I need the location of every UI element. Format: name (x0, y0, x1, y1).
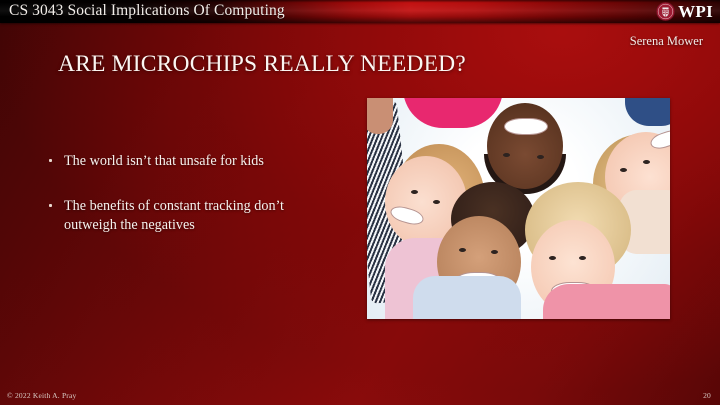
course-title: CS 3043 Social Implications Of Computing (9, 2, 285, 20)
photo-child-1-eye-left (503, 153, 510, 157)
slide-header-bar: CS 3043 Social Implications Of Computing… (0, 0, 720, 23)
footer-copyright: © 2022 Keith A. Pray (7, 391, 77, 400)
photo-child-4-eye-left (459, 248, 466, 252)
photo-child-1-face (487, 103, 563, 189)
photo-child-3-eye-left (620, 168, 627, 172)
photo-child-2-eye-right (433, 200, 440, 204)
photo-child-1-mouth (504, 118, 548, 135)
photo-child-2-eye-left (411, 190, 418, 194)
bullet-marker-icon (49, 159, 52, 162)
wpi-wordmark: WPI (678, 2, 713, 21)
photo-child-1-eye-right (537, 155, 544, 159)
footer-page-number: 20 (703, 391, 711, 400)
bullet-item: The world isn’t that unsafe for kids (46, 152, 336, 171)
bullet-marker-icon (49, 204, 52, 207)
photo-child-5-shirt (543, 284, 670, 319)
slide-photo (367, 98, 670, 319)
slide-title: ARE MICROCHIPS REALLY NEEDED? (58, 51, 466, 78)
bullet-text: The benefits of constant tracking don’t … (64, 198, 284, 233)
presentation-slide: CS 3043 Social Implications Of Computing… (0, 0, 720, 405)
photo-child-5-eye-left (549, 256, 556, 260)
bullet-item: The benefits of constant tracking don’t … (46, 197, 336, 235)
bullet-list: The world isn’t that unsafe for kids The… (46, 152, 336, 261)
photo-child-left-arm (367, 98, 393, 134)
photo-child-5-eye-right (579, 256, 586, 260)
wpi-seal-icon (656, 2, 675, 21)
photo-child-4-shirt (413, 276, 521, 319)
wpi-logo: WPI (656, 1, 713, 22)
photo-child-4-eye-right (491, 250, 498, 254)
author-name: Serena Mower (630, 34, 703, 49)
bullet-text: The world isn’t that unsafe for kids (64, 153, 264, 169)
photo-child-3-eye-right (643, 160, 650, 164)
